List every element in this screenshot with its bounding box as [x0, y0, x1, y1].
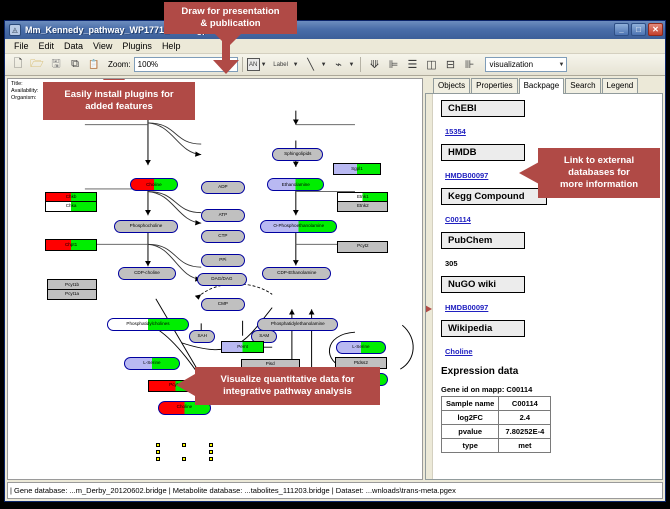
- node-label: SAM: [259, 334, 269, 339]
- table-row: Sample name C00114: [442, 397, 551, 411]
- paste-icon[interactable]: 📋: [85, 56, 103, 74]
- status-bar: | Gene database: ...m_Derby_20120602.bri…: [7, 482, 663, 499]
- gene-pcyt1a[interactable]: Pcyt1a: [47, 289, 96, 300]
- node-label: CDP-Ethanolamine: [277, 271, 316, 276]
- menu-help[interactable]: Help: [157, 40, 186, 52]
- gene-chpt1[interactable]: Chpt1: [45, 239, 96, 251]
- panel-tab-strip: Objects Properties Backpage Search Legen…: [425, 78, 663, 94]
- metabolite-cmp[interactable]: CMP: [201, 298, 244, 311]
- metabolite-choline[interactable]: Choline: [130, 178, 177, 191]
- row-key: pvalue: [442, 425, 499, 439]
- node-label: PPi: [219, 258, 226, 263]
- tab-legend[interactable]: Legend: [602, 78, 639, 93]
- node-label: CTP: [218, 234, 227, 239]
- metabolite-phosphatidylcholines[interactable]: Phosphatidylcholines: [107, 318, 190, 331]
- menu-view[interactable]: View: [88, 40, 117, 52]
- close-button[interactable]: ✕: [648, 23, 663, 36]
- application-window: ◬ Mm_Kennedy_pathway_WP1771_45176.gpml _…: [4, 20, 666, 502]
- visualization-combo[interactable]: visualization ▼: [485, 57, 567, 72]
- nugo-wiki-link[interactable]: HMDB00097: [445, 303, 488, 312]
- gene-chka[interactable]: Chka: [45, 201, 96, 212]
- draw-callout-line1: Draw for presentation: [181, 6, 279, 18]
- draw-callout-stem: [222, 34, 230, 62]
- maximize-button[interactable]: □: [631, 23, 646, 36]
- metabolite-o-phosphoethanolamine[interactable]: O-Phosphoethanolamine: [260, 220, 337, 233]
- draw-callout: Draw for presentation & publication: [164, 2, 297, 34]
- metabolite-sphingolipids[interactable]: Sphingolipids: [272, 148, 323, 161]
- gene-pemt[interactable]: Pemt: [221, 341, 264, 353]
- table-row: type met: [442, 439, 551, 453]
- line-tool-icon[interactable]: ╲: [302, 56, 320, 74]
- label-tool-icon[interactable]: Label: [270, 56, 292, 74]
- expression-data-title: Expression data: [441, 366, 654, 377]
- menu-edit[interactable]: Edit: [34, 40, 60, 52]
- side-panel: Objects Properties Backpage Search Legen…: [425, 78, 663, 480]
- selection-handle[interactable]: [209, 457, 213, 461]
- interaction-dropdown-icon[interactable]: ▼: [349, 62, 355, 68]
- hmdb-link[interactable]: HMDB00097: [445, 171, 488, 180]
- external-db-callout-line1: Link to external: [564, 155, 634, 167]
- visualize-callout-line1: Visualize quantitative data for: [221, 374, 355, 386]
- node-label: L-Serine: [143, 361, 160, 366]
- node-label: Choline: [177, 405, 193, 410]
- visualization-value: visualization: [489, 60, 533, 69]
- copy-icon[interactable]: ⧉: [66, 56, 84, 74]
- toolbar-separator: [242, 57, 243, 72]
- status-bar-text: | Gene database: ...m_Derby_20120602.bri…: [10, 486, 456, 495]
- visualize-callout-line2: integrative pathway analysis: [223, 386, 352, 398]
- node-label: Pcyt1b: [65, 283, 79, 288]
- selection-handle[interactable]: [156, 457, 160, 461]
- row-value: 7.80252E-4: [499, 425, 551, 439]
- chebi-link[interactable]: 15354: [445, 127, 466, 136]
- metabolite-l-serine[interactable]: L-Serine: [124, 357, 179, 370]
- chevron-down-icon-2: ▼: [559, 62, 565, 68]
- pubchem-header: PubChem: [441, 232, 525, 249]
- row-value: C00114: [499, 397, 551, 411]
- node-label: Pemt: [237, 345, 248, 350]
- same-width-icon[interactable]: ⊟: [441, 56, 459, 74]
- metabolite-cdp-ethanolamine[interactable]: CDP-Ethanolamine: [262, 267, 331, 280]
- kegg-compound-header: Kegg Compound: [441, 188, 547, 205]
- pubchem-value: 305: [445, 259, 458, 268]
- node-label: Phosphocholine: [130, 224, 163, 229]
- row-key: type: [442, 439, 499, 453]
- save-icon[interactable]: 🖫: [47, 56, 65, 74]
- distribute-vertical-icon[interactable]: ☰: [403, 56, 421, 74]
- gene-sgpl1[interactable]: Sgpl1: [333, 163, 380, 175]
- table-row: pvalue 7.80252E-4: [442, 425, 551, 439]
- node-label: Choline: [146, 183, 162, 188]
- pathway-canvas[interactable]: Title: Availability: Organism:: [7, 78, 423, 480]
- tab-objects[interactable]: Objects: [433, 78, 470, 93]
- expression-callout-arrow: [425, 301, 432, 317]
- selection-handle[interactable]: [182, 457, 186, 461]
- main-body: Title: Availability: Organism:: [5, 76, 665, 482]
- window-buttons: _ □ ✕: [614, 23, 663, 36]
- visualize-callout: Visualize quantitative data for integrat…: [195, 367, 380, 405]
- selection-handle[interactable]: [182, 443, 186, 447]
- plugins-callout-arrow: [103, 78, 125, 80]
- plugins-callout-line2: added features: [85, 101, 153, 113]
- table-row: log2FC 2.4: [442, 411, 551, 425]
- draw-callout-line2: & publication: [200, 18, 260, 30]
- node-label: Etnk2: [357, 204, 369, 209]
- selection-handle[interactable]: [156, 443, 160, 447]
- draw-callout-stem-arrow: [213, 60, 239, 74]
- node-label: Chkb: [66, 195, 77, 200]
- zoom-value: 100%: [138, 60, 158, 69]
- selection-handle[interactable]: [156, 450, 160, 454]
- tab-search[interactable]: Search: [565, 78, 600, 93]
- gene-id-label: Gene id on mapp: C00114: [441, 385, 654, 394]
- row-value: 2.4: [499, 411, 551, 425]
- minimize-button[interactable]: _: [614, 23, 629, 36]
- tab-properties[interactable]: Properties: [471, 78, 517, 93]
- external-db-callout-arrow: [519, 162, 539, 184]
- gene-pcyt2[interactable]: Pcyt2: [337, 241, 388, 253]
- chebi-header: ChEBI: [441, 100, 525, 117]
- metabolite-cdp-choline[interactable]: CDP-choline: [118, 267, 175, 280]
- metabolite-dag-dag[interactable]: DAG/DAG: [197, 273, 246, 286]
- menu-plugins[interactable]: Plugins: [117, 40, 157, 52]
- node-label: Pcyt2: [357, 244, 369, 249]
- align-left-icon[interactable]: ⊫: [384, 56, 402, 74]
- menu-bar: File Edit Data View Plugins Help: [5, 39, 665, 54]
- node-label: ATP: [219, 213, 228, 218]
- gene-etnk2[interactable]: Etnk2: [337, 201, 388, 212]
- plugins-callout-line1: Easily install plugins for: [64, 89, 173, 101]
- external-db-callout: Link to external databases for more info…: [538, 148, 660, 198]
- plugins-callout: Easily install plugins for added feature…: [43, 82, 195, 120]
- external-db-callout-line3: more information: [560, 179, 638, 191]
- wikipedia-link[interactable]: Choline: [445, 347, 473, 356]
- align-top-icon[interactable]: ⟱: [365, 56, 383, 74]
- node-label: Ptdss2: [354, 361, 368, 366]
- label-dropdown-icon[interactable]: ▼: [293, 62, 299, 68]
- visualize-callout-arrow: [176, 374, 195, 396]
- hmdb-header: HMDB: [441, 144, 525, 161]
- datanode-icon[interactable]: AN: [247, 58, 260, 71]
- node-label: Sphingolipids: [284, 152, 311, 157]
- pathvisio-icon: ◬: [9, 24, 21, 36]
- distribute-horizontal-icon[interactable]: ◫: [422, 56, 440, 74]
- toolbar: 🗋 🗁 🖫 ⧉ 📋 Zoom: 100% ▼ AN ▼ Label ▼ ╲ ▼ …: [5, 54, 665, 76]
- row-value: met: [499, 439, 551, 453]
- metabolite-ethanolamine[interactable]: Ethanolamine: [267, 178, 324, 191]
- open-folder-icon[interactable]: 🗁: [28, 56, 46, 74]
- nugo-wiki-header: NuGO wiki: [441, 276, 525, 293]
- tab-backpage[interactable]: Backpage: [519, 78, 565, 94]
- selection-handle[interactable]: [209, 450, 213, 454]
- node-label: Phosphatidylethanolamine: [271, 322, 325, 327]
- node-label: SAH: [197, 334, 206, 339]
- new-file-icon[interactable]: 🗋: [9, 56, 27, 74]
- menu-file[interactable]: File: [9, 40, 34, 52]
- node-label: Sgpl1: [351, 167, 363, 172]
- metabolite-ppi[interactable]: PPi: [201, 254, 244, 267]
- interaction-tool-icon[interactable]: ⌁: [330, 56, 348, 74]
- external-db-callout-line2: databases for: [568, 167, 630, 179]
- metabolite-phosphocholine[interactable]: Phosphocholine: [114, 220, 177, 233]
- panel-splitter[interactable]: [426, 94, 433, 479]
- node-label: Phosphatidylcholines: [126, 322, 169, 327]
- selection-handle[interactable]: [209, 443, 213, 447]
- node-label: ADP: [218, 185, 227, 190]
- row-key: Sample name: [442, 397, 499, 411]
- wikipedia-header: Wikipedia: [441, 320, 525, 337]
- node-label: O-Phosphoethanolamine: [273, 224, 324, 229]
- node-label: Etnk1: [357, 195, 369, 200]
- node-label: CMP: [218, 302, 228, 307]
- node-label: Chka: [66, 204, 77, 209]
- metabolite-atp[interactable]: ATP: [201, 209, 244, 222]
- line-dropdown-icon[interactable]: ▼: [321, 62, 327, 68]
- node-label: Pcyt1a: [65, 292, 79, 297]
- metabolite-adp[interactable]: ADP: [201, 181, 244, 194]
- node-label: Chpt1: [65, 243, 77, 248]
- metabolite-sah[interactable]: SAH: [189, 330, 215, 343]
- backpage-panel: ChEBI 15354 HMDB HMDB00097 Kegg Compound…: [425, 94, 663, 480]
- title-bar: ◬ Mm_Kennedy_pathway_WP1771_45176.gpml _…: [5, 21, 665, 39]
- metabolite-ctp[interactable]: CTP: [201, 230, 244, 243]
- menu-data[interactable]: Data: [59, 40, 88, 52]
- row-key: log2FC: [442, 411, 499, 425]
- node-label: DAG/DAG: [211, 277, 232, 282]
- metabolite-l-serine[interactable]: L-Serine: [336, 341, 385, 354]
- kegg-compound-link[interactable]: C00114: [445, 215, 471, 224]
- datanode-dropdown-icon[interactable]: ▼: [261, 62, 267, 68]
- zoom-label: Zoom:: [108, 60, 131, 69]
- node-label: L-Serine: [352, 345, 369, 350]
- node-label: CDP-choline: [134, 271, 160, 276]
- node-label: Ethanolamine: [282, 183, 310, 188]
- toolbar-separator-2: [360, 57, 361, 72]
- stack-icon[interactable]: ⊪: [460, 56, 478, 74]
- expression-table: Sample name C00114 log2FC 2.4 pvalue 7.8…: [441, 396, 551, 453]
